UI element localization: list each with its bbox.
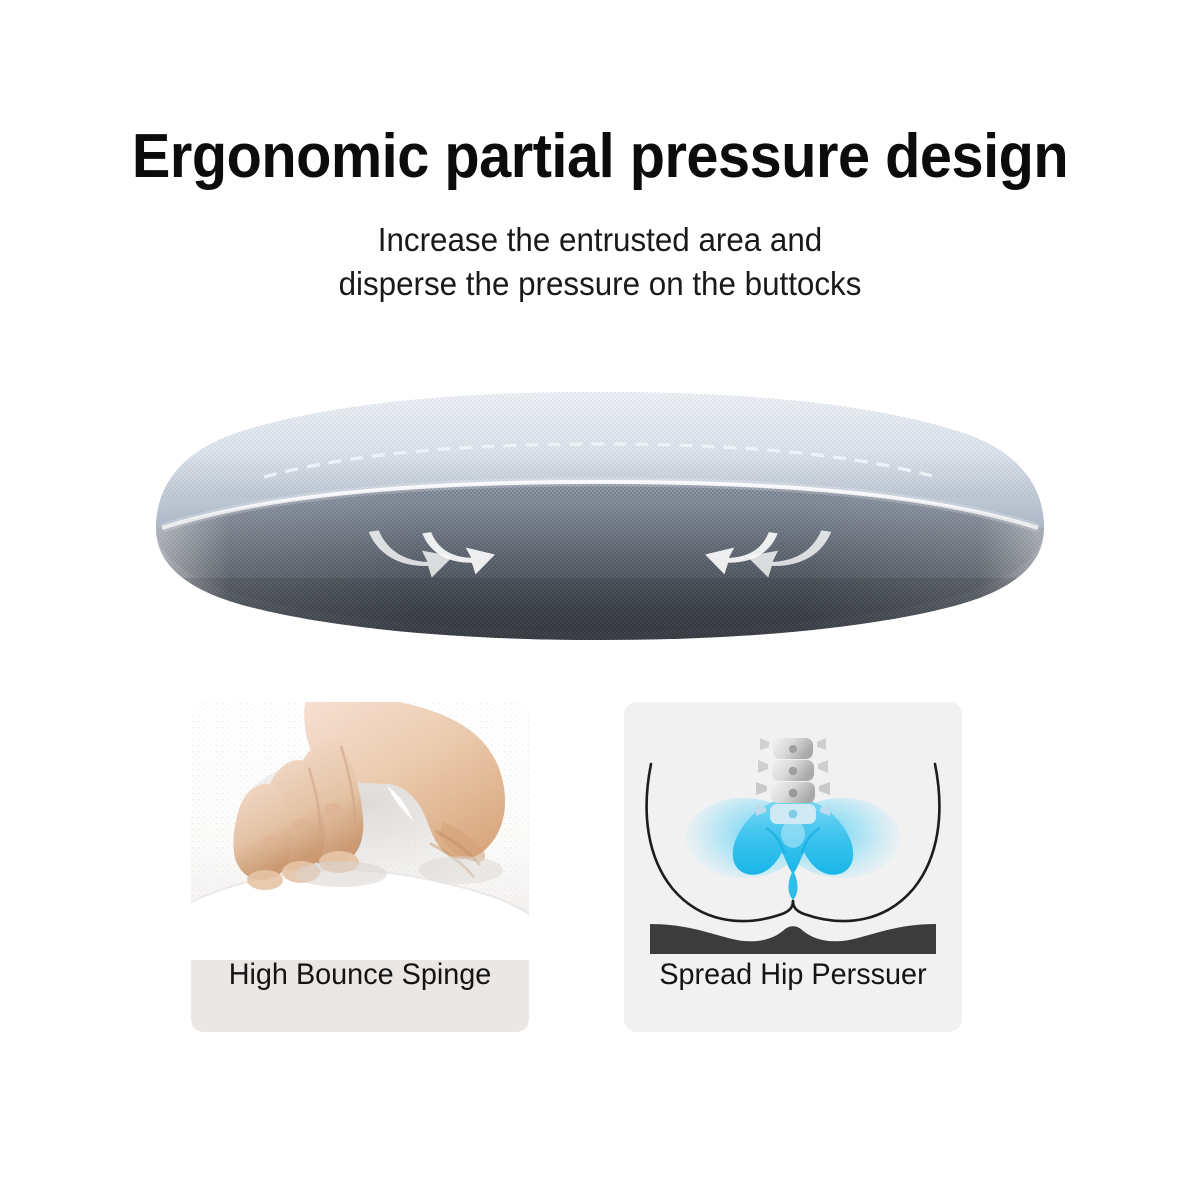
feature-panel-high-bounce-sponge[interactable]: High Bounce Spinge xyxy=(191,702,529,1032)
feature-panel-spread-hip-pressure[interactable]: Spread Hip Perssuer xyxy=(624,702,962,1032)
page-subtitle: Increase the entrusted area and disperse… xyxy=(30,218,1170,306)
hand-pressing-foam-photo xyxy=(191,702,529,960)
hero-product-image xyxy=(0,330,1200,680)
seat-cushion-illustration xyxy=(148,378,1052,643)
header: Ergonomic partial pressure design Increa… xyxy=(0,0,1200,320)
subtitle-line-2: disperse the pressure on the buttocks xyxy=(30,262,1170,306)
feature-caption-high-bounce-sponge: High Bounce Spinge xyxy=(198,960,522,990)
cushion-body xyxy=(148,378,1052,643)
subtitle-line-1: Increase the entrusted area and xyxy=(30,218,1170,262)
page-title: Ergonomic partial pressure design xyxy=(42,126,1158,188)
pelvis-on-cushion-diagram xyxy=(624,702,962,960)
feature-caption-spread-hip-pressure: Spread Hip Perssuer xyxy=(631,960,955,990)
feature-panels: High Bounce Spinge xyxy=(0,702,1200,1042)
